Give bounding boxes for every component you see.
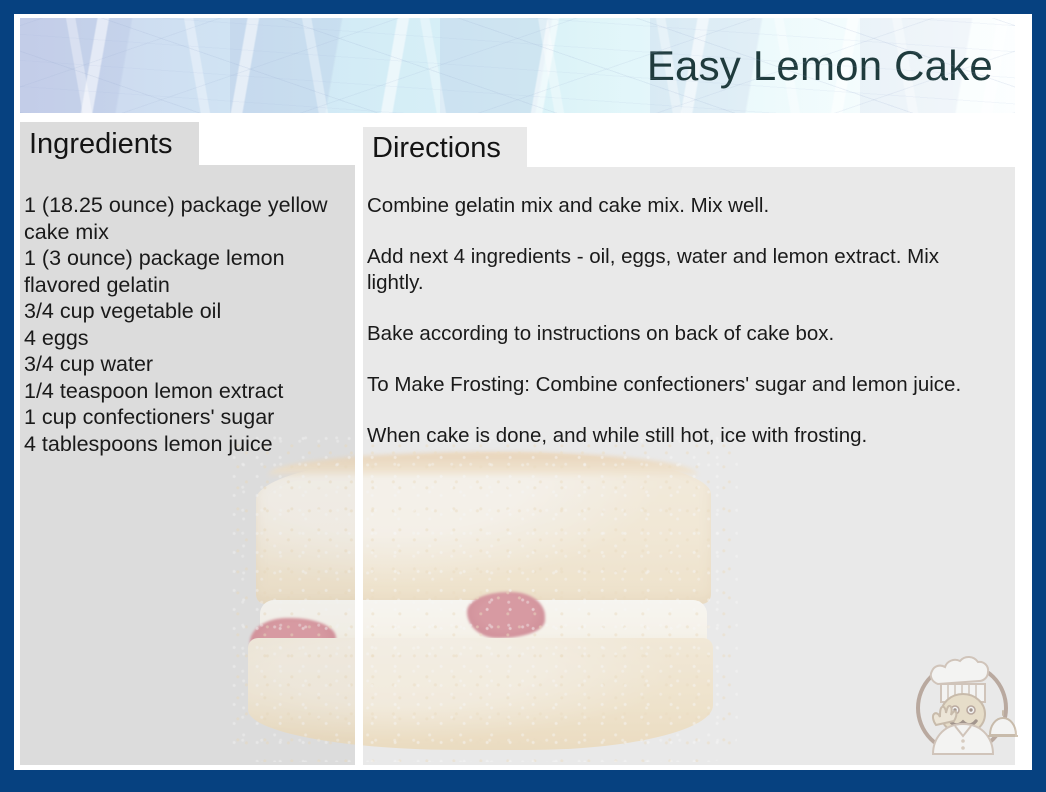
ingredient-item: 1 (18.25 ounce) package yellow cake mix (24, 192, 334, 245)
tab-ingredients[interactable]: Ingredients (20, 122, 199, 167)
ingredient-item: 4 eggs (24, 325, 334, 352)
direction-step: Combine gelatin mix and cake mix. Mix we… (367, 193, 995, 219)
ingredients-list: 1 (18.25 ounce) package yellow cake mix1… (24, 192, 334, 457)
tab-directions[interactable]: Directions (363, 127, 527, 169)
direction-step: Bake according to instructions on back o… (367, 321, 995, 347)
ingredient-item: 1 cup confectioners' sugar (24, 404, 334, 431)
tab-directions-label: Directions (372, 132, 501, 165)
tab-ingredients-label: Ingredients (29, 128, 173, 161)
column-divider (355, 165, 363, 765)
directions-steps: Combine gelatin mix and cake mix. Mix we… (367, 193, 995, 474)
page-title: Easy Lemon Cake (647, 42, 993, 90)
header-banner: Easy Lemon Cake (20, 18, 1015, 113)
ingredient-item: 4 tablespoons lemon juice (24, 431, 334, 458)
direction-step: Add next 4 ingredients - oil, eggs, wate… (367, 244, 995, 296)
ingredient-item: 1 (3 ounce) package lemon flavored gelat… (24, 245, 334, 298)
ingredient-item: 3/4 cup water (24, 351, 334, 378)
ingredient-item: 1/4 teaspoon lemon extract (24, 378, 334, 405)
direction-step: To Make Frosting: Combine confectioners'… (367, 372, 995, 398)
direction-step: When cake is done, and while still hot, … (367, 423, 995, 449)
ingredient-item: 3/4 cup vegetable oil (24, 298, 334, 325)
recipe-card: Easy Lemon Cake Ingredients Directions 1… (0, 0, 1046, 792)
